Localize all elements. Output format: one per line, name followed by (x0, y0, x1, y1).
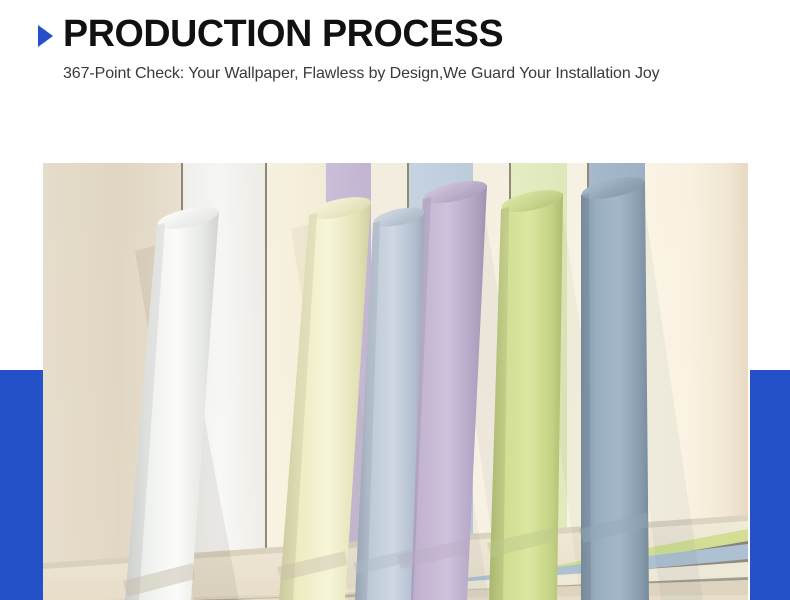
product-photo (43, 163, 748, 600)
page-subtitle: 367-Point Check: Your Wallpaper, Flawles… (63, 62, 678, 85)
triangle-right-icon (38, 25, 53, 47)
promo-banner: PRODUCTION PROCESS 367-Point Check: Your… (0, 0, 790, 600)
blue-accent-block-right (750, 370, 790, 600)
blue-accent-block-left (0, 370, 43, 600)
wallpaper-rolls-illustration (43, 163, 748, 600)
header-section: PRODUCTION PROCESS 367-Point Check: Your… (0, 0, 790, 163)
photo-warm-overlay (43, 163, 748, 600)
page-title: PRODUCTION PROCESS (63, 13, 503, 55)
title-row: PRODUCTION PROCESS (38, 13, 508, 55)
